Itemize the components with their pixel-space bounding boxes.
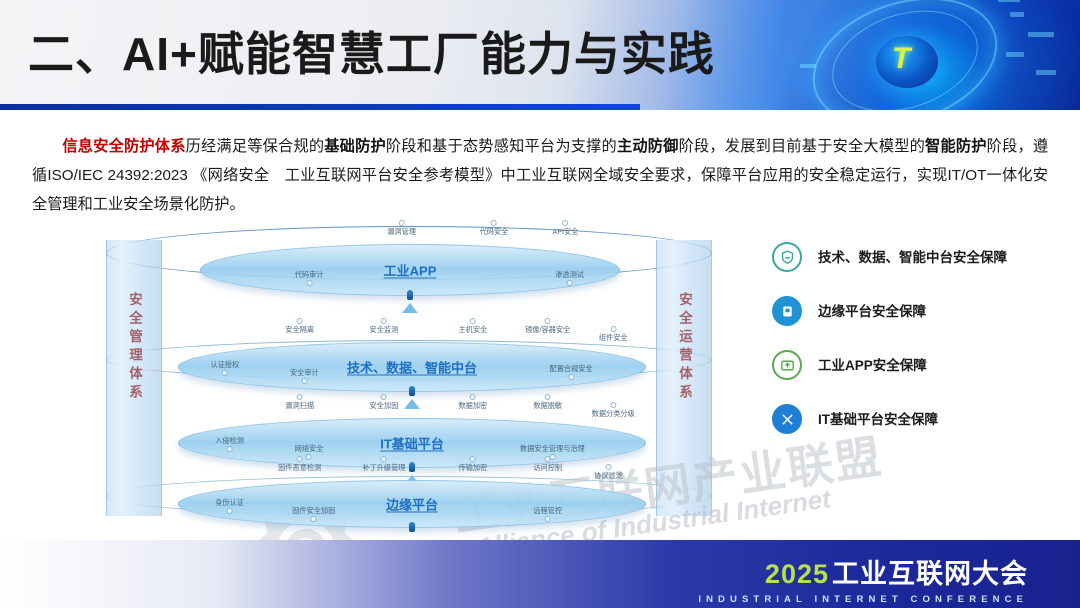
node-dot-icon bbox=[567, 280, 573, 286]
connector-pin-icon bbox=[409, 462, 415, 472]
pillar-security-operations: 安全运营体系 bbox=[656, 240, 712, 516]
legend-label: IT基础平台安全保障 bbox=[818, 408, 938, 428]
node-dot-icon bbox=[226, 508, 232, 514]
layer-connector bbox=[401, 290, 419, 313]
circuit-chip-icon bbox=[1028, 32, 1054, 37]
node-dot-icon bbox=[491, 220, 497, 226]
t-logo-mark: T bbox=[892, 42, 922, 76]
node-dot-icon bbox=[562, 220, 568, 226]
layer-node[interactable]: 镜像/容器安全 bbox=[525, 318, 570, 334]
app-upload-icon bbox=[772, 350, 802, 380]
connector-pin-icon bbox=[409, 386, 415, 396]
legend-label: 技术、数据、智能中台安全保障 bbox=[818, 246, 1007, 266]
paragraph-accent-term: 信息安全防护体系 bbox=[62, 138, 185, 155]
node-dot-icon bbox=[545, 318, 551, 324]
layer-node[interactable]: 代码审计 bbox=[295, 270, 324, 286]
slide-footer: 2025工业互联网大会 INDUSTRIAL INTERNET CONFEREN… bbox=[0, 540, 1080, 608]
node-label: 数据加密 bbox=[458, 401, 487, 410]
layer-connector bbox=[403, 386, 421, 409]
layer-connector-end bbox=[403, 522, 421, 532]
layer-edge-platform[interactable]: 边缘平台 固件恶意检测 补丁升级管理 传输加密 访问控制 协议过滤 身份认证 固… bbox=[178, 480, 646, 528]
node-dot-icon bbox=[610, 402, 616, 408]
connector-pin-icon bbox=[407, 290, 413, 300]
node-label: 固件恶意检测 bbox=[278, 463, 321, 472]
slide-root: T 二、AI+赋能智慧工厂能力与实践 信息安全防护体系历经满足等保合规的基础防护… bbox=[0, 0, 1080, 608]
node-label: 安全监测 bbox=[370, 325, 399, 334]
node-dot-icon bbox=[545, 456, 551, 462]
node-label: 网络安全 bbox=[295, 444, 324, 453]
node-dot-icon bbox=[297, 456, 303, 462]
node-label: 漏洞扫描 bbox=[285, 401, 314, 410]
layer-node[interactable]: 渗透测试 bbox=[555, 270, 584, 286]
node-label: 安全隔离 bbox=[285, 325, 314, 334]
tools-icon bbox=[772, 404, 802, 434]
node-dot-icon bbox=[306, 280, 312, 286]
layer-node[interactable]: 代码安全 bbox=[480, 220, 509, 236]
node-dot-icon bbox=[297, 394, 303, 400]
layer-node[interactable]: 访问控制 bbox=[533, 456, 562, 472]
node-dot-icon bbox=[222, 370, 228, 376]
connector-pin-icon bbox=[409, 522, 415, 532]
legend-item-edge[interactable]: 边缘平台安全保障 bbox=[772, 294, 1062, 348]
body-paragraph: 信息安全防护体系历经满足等保合规的基础防护阶段和基于态势感知平台为支撑的主动防御… bbox=[32, 132, 1048, 219]
layer-node[interactable]: 安全加固 bbox=[370, 394, 399, 410]
layer-node[interactable]: 安全审计 bbox=[290, 368, 319, 384]
layer-title: IT基础平台 bbox=[380, 434, 444, 453]
circuit-chip-icon bbox=[800, 64, 816, 68]
node-dot-icon bbox=[311, 516, 317, 522]
layer-node[interactable]: 入侵检测 bbox=[215, 436, 244, 452]
conference-year: 2025 bbox=[765, 559, 829, 589]
paragraph-text-2: 阶段和基于态势感知平台为支撑的 bbox=[386, 138, 617, 155]
conference-logo: 2025工业互联网大会 INDUSTRIAL INTERNET CONFEREN… bbox=[698, 552, 1028, 605]
layer-node[interactable]: 组件安全 bbox=[599, 326, 628, 342]
legend-item-app[interactable]: 工业APP安全保障 bbox=[772, 348, 1062, 402]
node-dot-icon bbox=[470, 318, 476, 324]
node-dot-icon bbox=[610, 326, 616, 332]
layer-node[interactable]: 安全隔离 bbox=[285, 318, 314, 334]
conference-title-en: INDUSTRIAL INTERNET CONFERENCE bbox=[698, 594, 1028, 605]
node-dot-icon bbox=[545, 394, 551, 400]
node-label: 协议过滤 bbox=[594, 471, 623, 480]
node-label: 组件安全 bbox=[599, 333, 628, 342]
layer-title: 边缘平台 bbox=[386, 495, 438, 514]
node-label: 数据脱敏 bbox=[533, 401, 562, 410]
layer-node[interactable]: 补丁升级管理 bbox=[362, 456, 405, 472]
layer-node[interactable]: 数据分类分级 bbox=[592, 402, 635, 418]
layer-title: 技术、数据、智能中台 bbox=[347, 358, 477, 377]
layer-node[interactable]: 数据脱敏 bbox=[533, 394, 562, 410]
node-dot-icon bbox=[381, 318, 387, 324]
legend-item-it-base[interactable]: IT基础平台安全保障 bbox=[772, 402, 1062, 456]
node-label: 漏洞管理 bbox=[387, 227, 416, 236]
edge-device-icon bbox=[772, 296, 802, 326]
page-title: 二、AI+赋能智慧工厂能力与实践 bbox=[28, 18, 715, 84]
node-dot-icon bbox=[470, 394, 476, 400]
layer-node[interactable]: 传输加密 bbox=[458, 456, 487, 472]
node-label: API安全 bbox=[552, 227, 578, 236]
layer-node[interactable]: 主机安全 bbox=[458, 318, 487, 334]
legend-label: 工业APP安全保障 bbox=[818, 354, 927, 374]
layer-node[interactable]: 身份认证 bbox=[215, 498, 244, 514]
node-label: 数据分类分级 bbox=[592, 409, 635, 418]
node-label: 渗透测试 bbox=[555, 270, 584, 279]
node-label: 入侵检测 bbox=[215, 436, 244, 445]
layer-node[interactable]: 认证授权 bbox=[210, 360, 239, 376]
node-label: 安全加固 bbox=[370, 401, 399, 410]
circuit-chip-icon bbox=[1006, 52, 1024, 57]
header-tech-graphic: T bbox=[680, 0, 1080, 110]
layer-node[interactable]: 协议过滤 bbox=[594, 464, 623, 480]
connector-arrow-icon bbox=[404, 399, 420, 409]
node-label: 补丁升级管理 bbox=[362, 463, 405, 472]
node-dot-icon bbox=[470, 456, 476, 462]
pillar-right-label: 安全运营体系 bbox=[674, 292, 694, 403]
shield-cloud-icon bbox=[772, 242, 802, 272]
node-label: 传输加密 bbox=[458, 463, 487, 472]
node-label: 配置合规安全 bbox=[550, 364, 593, 373]
node-label: 访问控制 bbox=[533, 463, 562, 472]
paragraph-bold-3: 智能防护 bbox=[925, 138, 987, 155]
node-dot-icon bbox=[381, 394, 387, 400]
conference-title-cn: 工业互联网大会 bbox=[832, 559, 1028, 589]
layer-node[interactable]: 漏洞管理 bbox=[387, 220, 416, 236]
layer-industrial-app[interactable]: 工业APP 漏洞管理 代码安全 API安全 代码审计 渗透测试 bbox=[200, 244, 620, 296]
node-dot-icon bbox=[568, 374, 574, 380]
layer-tech-data-midend[interactable]: 技术、数据、智能中台 安全隔离 安全监测 主机安全 镜像/容器安全 组件安全 认… bbox=[178, 342, 646, 392]
layer-it-base-platform[interactable]: IT基础平台 漏洞扫描 安全加固 数据加密 数据脱敏 数据分类分级 入侵检测 网… bbox=[178, 418, 646, 468]
layer-node[interactable]: 固件恶意检测 bbox=[278, 456, 321, 472]
node-label: 代码安全 bbox=[480, 227, 509, 236]
paragraph-bold-2: 主动防御 bbox=[617, 138, 679, 155]
layer-node[interactable]: 漏洞扫描 bbox=[285, 394, 314, 410]
node-label: 身份认证 bbox=[215, 498, 244, 507]
layer-node[interactable]: API安全 bbox=[552, 220, 578, 236]
circuit-chip-icon bbox=[1010, 12, 1024, 17]
layer-node[interactable]: 固件安全加固 bbox=[292, 506, 335, 522]
paragraph-bold-1: 基础防护 bbox=[324, 138, 386, 155]
layer-node[interactable]: 数据加密 bbox=[458, 394, 487, 410]
node-dot-icon bbox=[399, 220, 405, 226]
architecture-diagram: 安全管理体系 安全运营体系 工业互联网产业联盟 Alliance of Indu… bbox=[60, 222, 820, 532]
node-dot-icon bbox=[545, 516, 551, 522]
layer-title: 工业APP bbox=[384, 261, 437, 280]
node-dot-icon bbox=[297, 318, 303, 324]
node-dot-icon bbox=[606, 464, 612, 470]
layer-node[interactable]: 远程管控 bbox=[533, 506, 562, 522]
layer-node[interactable]: 配置合规安全 bbox=[550, 364, 593, 380]
header-bottom-rule bbox=[0, 104, 640, 110]
node-label: 远程管控 bbox=[533, 506, 562, 515]
paragraph-text-3: 阶段，发展到目前基于安全大模型的 bbox=[679, 138, 925, 155]
node-dot-icon bbox=[381, 456, 387, 462]
connector-arrow-icon bbox=[402, 303, 418, 313]
pillar-security-management: 安全管理体系 bbox=[106, 240, 162, 516]
legend-label: 边缘平台安全保障 bbox=[818, 300, 926, 320]
circuit-chip-icon bbox=[998, 0, 1020, 2]
legend-list: 技术、数据、智能中台安全保障 边缘平台安全保障 工业APP安全保障 bbox=[772, 240, 1062, 456]
circuit-chip-icon bbox=[1036, 70, 1056, 75]
node-label: 安全审计 bbox=[290, 368, 319, 377]
node-dot-icon bbox=[301, 378, 307, 384]
slide-header: T 二、AI+赋能智慧工厂能力与实践 bbox=[0, 0, 1080, 110]
legend-item-midend[interactable]: 技术、数据、智能中台安全保障 bbox=[772, 240, 1062, 294]
layer-node[interactable]: 安全监测 bbox=[370, 318, 399, 334]
paragraph-text-1: 历经满足等保合规的 bbox=[186, 138, 325, 155]
node-dot-icon bbox=[226, 446, 232, 452]
node-label: 固件安全加固 bbox=[292, 506, 335, 515]
node-label: 镜像/容器安全 bbox=[525, 325, 570, 334]
node-label: 认证授权 bbox=[210, 360, 239, 369]
pillar-left-label: 安全管理体系 bbox=[124, 292, 144, 403]
node-label: 代码审计 bbox=[295, 270, 324, 279]
node-label: 主机安全 bbox=[458, 325, 487, 334]
node-label: 数据安全管理与治理 bbox=[520, 444, 585, 453]
